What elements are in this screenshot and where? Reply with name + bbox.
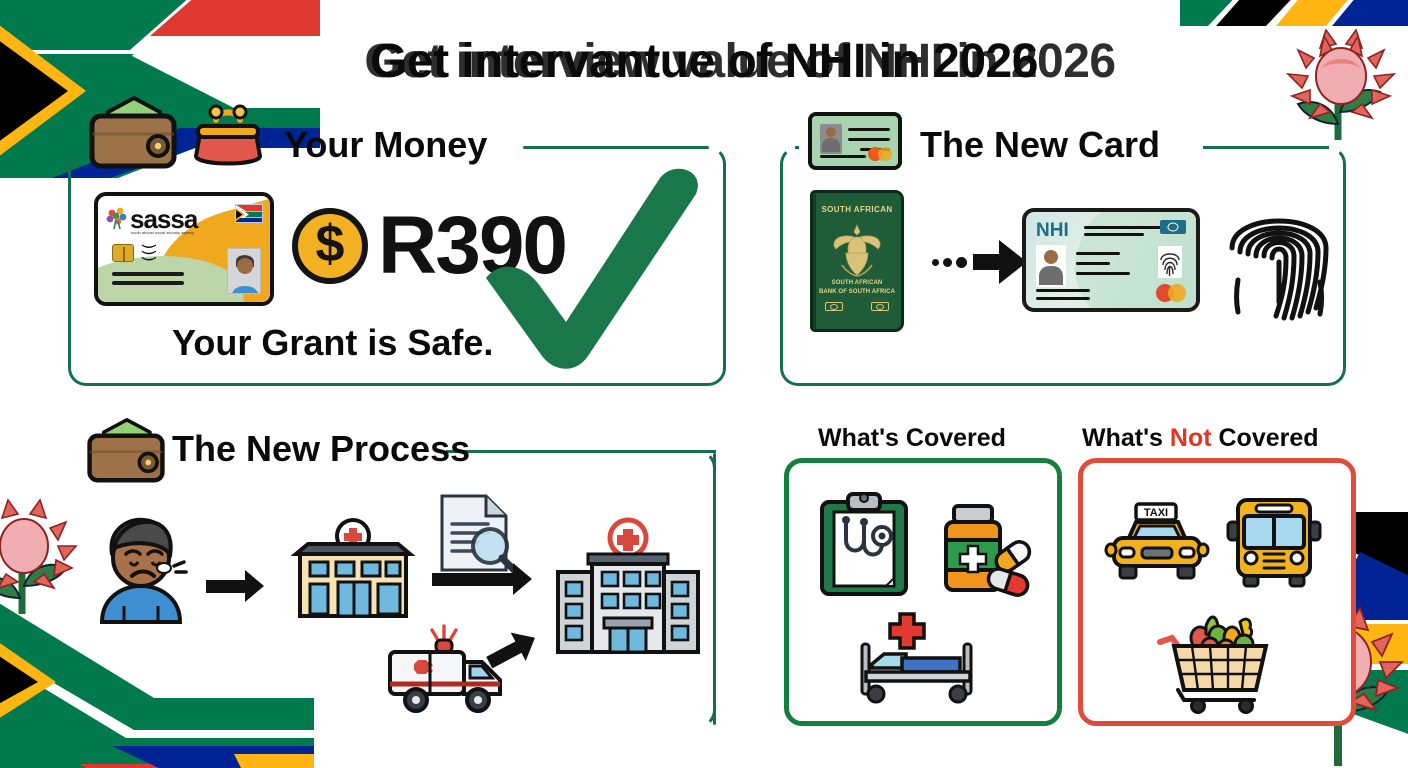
svg-text:TAXI: TAXI	[1144, 507, 1168, 519]
wallet-with-cash-icon	[88, 96, 178, 168]
sa-passport-icon: SOUTH AFRICAN SOUTH AFRICAN BANK OF SOUT…	[810, 190, 904, 332]
clipboard-stethoscope-icon	[818, 492, 910, 596]
clinic-icon	[290, 520, 416, 620]
sa-flag-mini-icon	[235, 204, 263, 223]
process-arrow-1-icon	[206, 570, 264, 602]
medicine-bottle-pills-icon	[936, 502, 1030, 598]
mastercard-logo-icon	[868, 147, 892, 161]
passport-bottom-line2: BANK OF SOUTH AFRICA	[819, 289, 895, 295]
wallet-with-cash-icon-2	[86, 418, 166, 482]
arrow-right-icon	[932, 238, 1027, 286]
id-card-icon	[808, 112, 902, 170]
fingerprint-icon	[1224, 192, 1334, 322]
green-checkmark-icon	[470, 160, 708, 370]
panel-whats-covered-heading: What's Covered	[818, 424, 1006, 453]
passport-top-text: SOUTH AFRICAN	[813, 205, 901, 214]
passport-biometric-emblem-right	[871, 302, 889, 311]
coin-purse-icon	[192, 104, 264, 170]
passport-bottom-text: SOUTH AFRICAN BANK OF SOUTH AFRICA	[813, 279, 901, 296]
not-covered-highlight: Not	[1170, 424, 1212, 452]
nhi-mastercard-logo-icon	[1156, 284, 1186, 302]
taxi-icon: TAXI	[1108, 502, 1206, 588]
bus-icon	[1228, 496, 1320, 590]
coin-symbol-text: $	[316, 218, 345, 270]
passport-biometric-emblem-left	[825, 302, 843, 311]
sassa-flower-logo-icon	[106, 206, 128, 230]
hospital-icon	[552, 520, 704, 656]
ambulance-icon	[386, 620, 510, 716]
shopping-cart-icon	[1158, 612, 1276, 712]
card-chip-icon	[112, 244, 134, 262]
card-number-lines	[112, 272, 184, 290]
poster-title: Get interview value of NHI in 2026 Get i…	[0, 26, 1408, 96]
cardholder-photo	[227, 248, 261, 294]
passport-bottom-line1: SOUTH AFRICAN	[832, 280, 883, 286]
panel-the-new-card-heading: The New Card	[920, 124, 1160, 166]
hospital-bed-icon	[852, 610, 986, 702]
sassa-card-icon: sassa south african social security agen…	[94, 192, 274, 306]
nhi-card-icon: NHI	[1022, 208, 1200, 312]
not-covered-text-part1: What's	[1082, 424, 1170, 452]
sassa-subtitle-text: south african social security agency	[131, 230, 194, 235]
panel-your-money-heading: Your Money	[284, 124, 487, 166]
poster-title-text: Get intervantue of NHI in 2026	[0, 34, 1408, 89]
nhi-fingerprint-icon	[1158, 246, 1182, 278]
dollar-coin-icon: $	[292, 208, 368, 284]
not-covered-text-part2: Covered	[1212, 424, 1319, 452]
poster-canvas: Get interview value of NHI in 2026 Get i…	[0, 0, 1408, 768]
contactless-icon: )))	[140, 243, 159, 262]
process-arrow-2-icon	[432, 563, 532, 595]
coat-of-arms-icon	[832, 223, 882, 277]
sick-person-icon	[86, 510, 196, 622]
nhi-card-label: NHI	[1036, 220, 1069, 242]
nhi-cardholder-photo	[1036, 245, 1066, 287]
nhi-chip-icon	[1160, 220, 1186, 234]
panel-the-new-process-heading: The New Process	[172, 428, 470, 470]
grant-safe-text: Your Grant is Safe.	[172, 322, 493, 364]
panel-whats-not-covered-heading: What's Not Covered	[1082, 424, 1319, 453]
